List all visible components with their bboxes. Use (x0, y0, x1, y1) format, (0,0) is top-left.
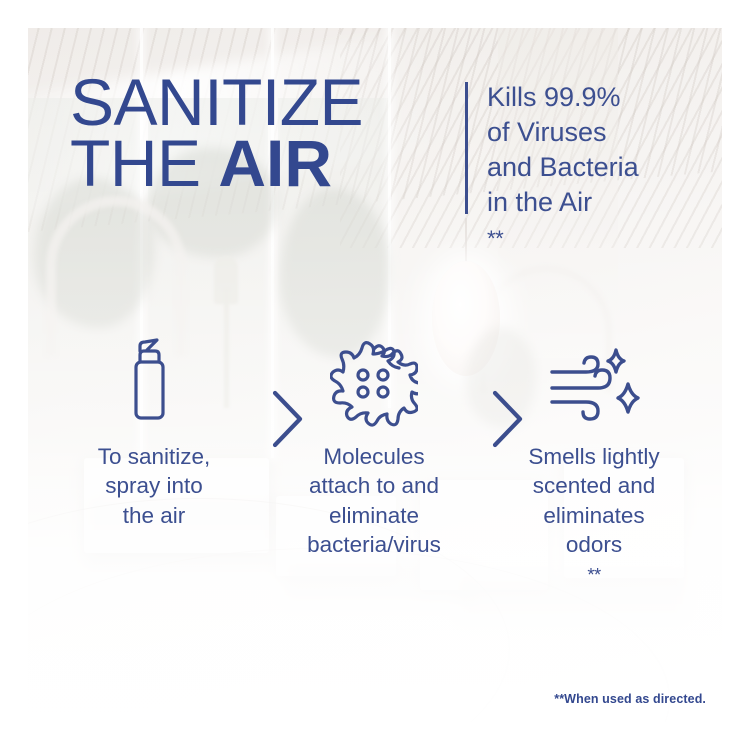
step-2-caption-line-3: eliminate (276, 501, 472, 530)
virus-icon (330, 340, 418, 428)
step-3-footnote-marker: ** (587, 564, 600, 585)
headline-line-2: THE AIR (70, 133, 460, 194)
step-scent: Smells lightly scented and eliminates od… (496, 336, 692, 588)
step-3-caption-line-4: odors** (496, 530, 692, 589)
poster-root: SANITIZE THE AIR Kills 99.9% of Viruses … (0, 0, 750, 750)
claim-block: Kills 99.9% of Viruses and Bacteria in t… (487, 80, 702, 255)
step-2-caption-line-2: attach to and (276, 471, 472, 500)
step-3-caption-line-4-text: odors (496, 530, 692, 559)
step-3-caption: Smells lightly scented and eliminates od… (496, 442, 692, 588)
step-1-caption-line-3: the air (56, 501, 252, 530)
claim-line-1: Kills 99.9% (487, 80, 702, 115)
wind-sparkle-icon (546, 340, 642, 428)
step-spray: To sanitize, spray into the air (56, 336, 252, 530)
step-1-icon-box (56, 336, 252, 428)
claim-line-4: in the Air** (487, 185, 702, 255)
steps-row: To sanitize, spray into the air (28, 336, 722, 576)
headline-divider (465, 82, 468, 214)
headline-line-2-prefix: THE (70, 126, 218, 200)
step-1-caption-line-2: spray into (56, 471, 252, 500)
chevron-right-icon (488, 388, 528, 450)
claim-line-2: of Viruses (487, 115, 702, 150)
footnote-disclaimer: **When used as directed. (554, 692, 706, 706)
claim-line-4-text: in the Air (487, 185, 702, 220)
step-3-caption-line-2: scented and (496, 471, 692, 500)
spray-can-icon (127, 336, 181, 428)
chevron-right-icon (268, 388, 308, 450)
chevron-separator-2 (488, 388, 528, 455)
step-1-caption-line-1: To sanitize, (56, 442, 252, 471)
headline-line-2-emphasis: AIR (218, 126, 332, 200)
chevron-separator-1 (268, 388, 308, 455)
step-2-caption-line-4: bacteria/virus (276, 530, 472, 559)
page-title: SANITIZE THE AIR (70, 72, 460, 195)
content-layer: SANITIZE THE AIR Kills 99.9% of Viruses … (0, 0, 750, 750)
claim-footnote-marker: ** (487, 226, 503, 251)
step-3-caption-line-3: eliminates (496, 501, 692, 530)
step-2-caption: Molecules attach to and eliminate bacter… (276, 442, 472, 559)
step-1-caption: To sanitize, spray into the air (56, 442, 252, 530)
claim-line-3: and Bacteria (487, 150, 702, 185)
